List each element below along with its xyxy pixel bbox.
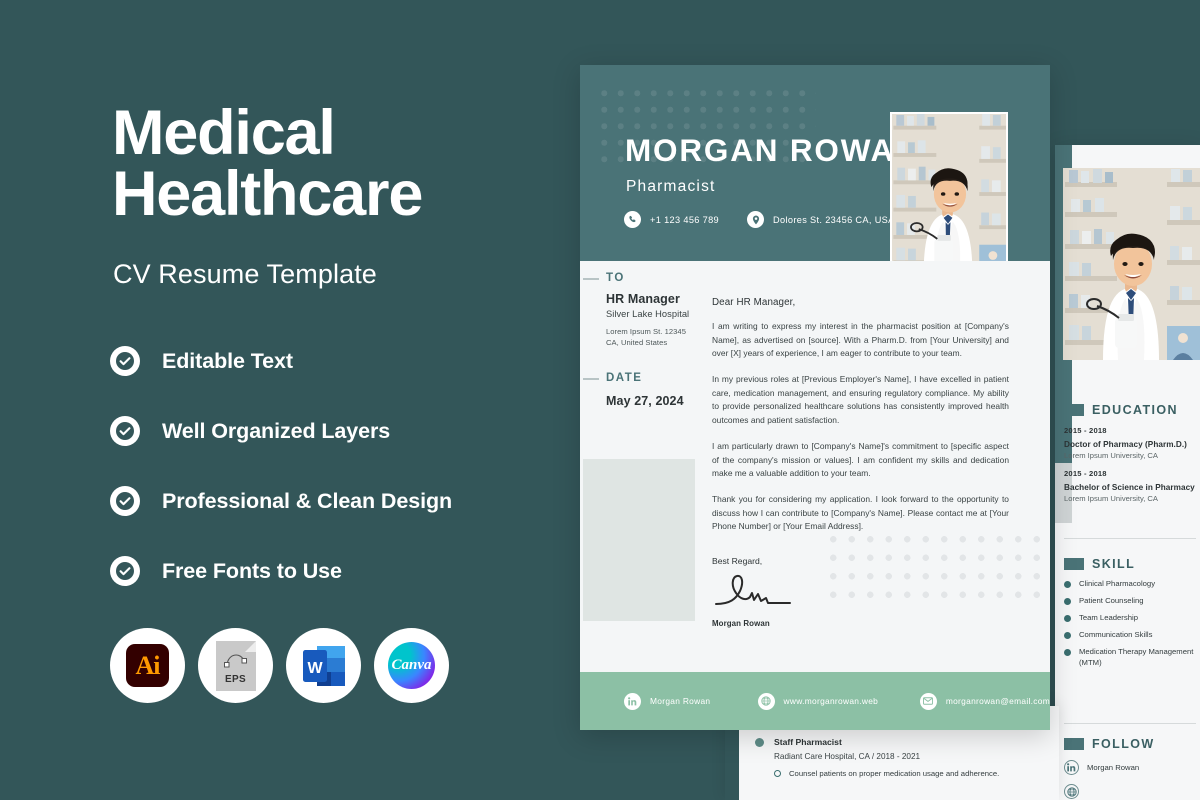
feature-list: Editable Text Well Organized Layers Prof… bbox=[110, 326, 540, 606]
bullet-dot-icon bbox=[1064, 598, 1071, 605]
follow-label: Morgan Rowan bbox=[1087, 763, 1139, 772]
skill-section: SKILL Clinical Pharmacology Patient Coun… bbox=[1064, 557, 1196, 669]
skill-label: Patient Counseling bbox=[1079, 596, 1144, 607]
follow-item[interactable] bbox=[1064, 784, 1196, 799]
skill-item: Team Leadership bbox=[1064, 613, 1196, 624]
to-address-line1: Lorem Ipsum St. 12345 bbox=[606, 326, 686, 337]
applicant-role: Pharmacist bbox=[626, 178, 716, 196]
cover-letter-footer: Morgan Rowan www.morganrowan.web morganr… bbox=[580, 672, 1050, 730]
footer-email[interactable]: morganrowan@email.com bbox=[920, 693, 1050, 710]
to-address-line2: CA, United States bbox=[606, 337, 667, 348]
cover-letter-header: MORGAN ROWAN Pharmacist +1 123 456 789 D… bbox=[580, 65, 1050, 261]
contact-phone-text: +1 123 456 789 bbox=[650, 215, 719, 225]
email-icon bbox=[920, 693, 937, 710]
contact-phone[interactable]: +1 123 456 789 bbox=[624, 211, 719, 228]
experience-meta: Radiant Care Hospital, CA / 2018 - 2021 bbox=[774, 752, 1055, 761]
resume-sidebar-page: EDUCATION 2015 - 2018 Doctor of Pharmacy… bbox=[1055, 145, 1200, 800]
bullet-dot-icon bbox=[1064, 649, 1071, 656]
follow-title: FOLLOW bbox=[1092, 737, 1155, 751]
education-degree: Bachelor of Science in Pharmacy bbox=[1064, 483, 1196, 492]
cover-letter-body: TO HR Manager Silver Lake Hospital Lorem… bbox=[580, 261, 1050, 671]
feature-label: Professional & Clean Design bbox=[162, 489, 452, 514]
globe-icon bbox=[1064, 784, 1079, 799]
skill-label: Clinical Pharmacology bbox=[1079, 579, 1155, 590]
education-school: Lorem Ipsum University, CA bbox=[1064, 451, 1196, 460]
check-circle-icon bbox=[110, 556, 140, 586]
adobe-illustrator-label: Ai bbox=[126, 644, 169, 687]
linkedin-icon bbox=[624, 693, 641, 710]
canva-label: Canva bbox=[388, 642, 435, 689]
education-degree: Doctor of Pharmacy (Pharm.D.) bbox=[1064, 440, 1196, 449]
footer-website[interactable]: www.morganrowan.web bbox=[758, 693, 879, 710]
skill-item: Clinical Pharmacology bbox=[1064, 579, 1196, 590]
feature-label: Editable Text bbox=[162, 349, 293, 374]
image-placeholder-box bbox=[583, 459, 695, 621]
section-divider bbox=[1064, 538, 1196, 539]
cover-letter-profile-photo bbox=[890, 112, 1008, 261]
education-title: EDUCATION bbox=[1092, 403, 1178, 417]
globe-icon bbox=[758, 693, 775, 710]
education-section: EDUCATION 2015 - 2018 Doctor of Pharmacy… bbox=[1064, 403, 1196, 503]
bezier-curve-icon bbox=[224, 648, 248, 670]
section-chip-icon bbox=[1064, 738, 1084, 750]
meta-rule bbox=[583, 278, 599, 280]
format-badges: Ai EPS W Canva bbox=[110, 628, 449, 703]
skill-label: Medication Therapy Management (MTM) bbox=[1079, 647, 1196, 669]
bullet-dot-icon bbox=[1064, 581, 1071, 588]
experience-bullet: Counsel patients on proper medication us… bbox=[774, 769, 1055, 778]
contact-address-text: Dolores St. 23456 CA, USA bbox=[773, 215, 895, 225]
education-school: Lorem Ipsum University, CA bbox=[1064, 494, 1196, 503]
signature-icon bbox=[712, 570, 804, 614]
skill-item: Medication Therapy Management (MTM) bbox=[1064, 647, 1196, 669]
education-entry: 2015 - 2018 Doctor of Pharmacy (Pharm.D.… bbox=[1064, 426, 1196, 460]
feature-item: Well Organized Layers bbox=[110, 396, 540, 466]
bullet-dot-icon bbox=[1064, 632, 1071, 639]
bullet-dot-icon bbox=[755, 738, 764, 747]
to-organization: Silver Lake Hospital bbox=[606, 309, 689, 319]
feature-label: Free Fonts to Use bbox=[162, 559, 342, 584]
eps-label: EPS bbox=[225, 674, 246, 685]
to-recipient-name: HR Manager bbox=[606, 292, 680, 306]
follow-section: FOLLOW Morgan Rowan bbox=[1064, 737, 1196, 799]
footer-linkedin[interactable]: Morgan Rowan bbox=[624, 693, 710, 710]
skill-label: Team Leadership bbox=[1079, 613, 1138, 624]
signature-name: Morgan Rowan bbox=[712, 619, 1009, 628]
education-date: 2015 - 2018 bbox=[1064, 426, 1196, 435]
experience-bullet-text: Counsel patients on proper medication us… bbox=[789, 769, 999, 778]
check-circle-icon bbox=[110, 416, 140, 446]
microsoft-word-icon[interactable]: W bbox=[286, 628, 361, 703]
letter-paragraph: I am particularly drawn to [Company's Na… bbox=[712, 440, 1009, 481]
bullet-ring-icon bbox=[774, 770, 781, 777]
promo-title-line2: Healthcare bbox=[112, 164, 422, 225]
canva-icon[interactable]: Canva bbox=[374, 628, 449, 703]
footer-linkedin-text: Morgan Rowan bbox=[650, 696, 710, 706]
dot-pattern-decoration bbox=[824, 530, 1042, 608]
cover-letter-page: MORGAN ROWAN Pharmacist +1 123 456 789 D… bbox=[580, 65, 1050, 730]
footer-email-text: morganrowan@email.com bbox=[946, 696, 1050, 706]
check-circle-icon bbox=[110, 486, 140, 516]
section-chip-icon bbox=[1064, 558, 1084, 570]
applicant-name: MORGAN ROWAN bbox=[625, 132, 920, 169]
skill-title: SKILL bbox=[1092, 557, 1135, 571]
letter-paragraph: I am writing to express my interest in t… bbox=[712, 320, 1009, 361]
feature-label: Well Organized Layers bbox=[162, 419, 390, 444]
education-date: 2015 - 2018 bbox=[1064, 469, 1196, 478]
skill-item: Communication Skills bbox=[1064, 630, 1196, 641]
linkedin-icon bbox=[1064, 760, 1079, 775]
letter-paragraph: Thank you for considering my application… bbox=[712, 493, 1009, 534]
date-value: May 27, 2024 bbox=[606, 394, 684, 408]
skill-label: Communication Skills bbox=[1079, 630, 1152, 641]
letter-greeting: Dear HR Manager, bbox=[712, 297, 1009, 308]
poster-canvas: Medical Healthcare CV Resume Template Ed… bbox=[0, 0, 1200, 800]
experience-title: Staff Pharmacist bbox=[774, 737, 842, 747]
section-chip-icon bbox=[1064, 404, 1084, 416]
feature-item: Editable Text bbox=[110, 326, 540, 396]
eps-file-icon[interactable]: EPS bbox=[198, 628, 273, 703]
phone-icon bbox=[624, 211, 641, 228]
cover-letter-text-column: Dear HR Manager, I am writing to express… bbox=[712, 261, 1009, 616]
promo-title-line1: Medical bbox=[112, 98, 335, 168]
experience-entry: Staff Pharmacist bbox=[755, 737, 1055, 747]
follow-item[interactable]: Morgan Rowan bbox=[1064, 760, 1196, 775]
letter-paragraph: In my previous roles at [Previous Employ… bbox=[712, 373, 1009, 428]
feature-item: Free Fonts to Use bbox=[110, 536, 540, 606]
check-circle-icon bbox=[110, 346, 140, 376]
to-label: TO bbox=[606, 272, 625, 284]
bullet-dot-icon bbox=[1064, 615, 1071, 622]
meta-rule bbox=[583, 378, 599, 380]
header-contacts: +1 123 456 789 Dolores St. 23456 CA, USA bbox=[624, 211, 895, 228]
cover-letter-meta-column: TO HR Manager Silver Lake Hospital Lorem… bbox=[580, 261, 695, 671]
promo-subtitle: CV Resume Template bbox=[113, 259, 377, 290]
contact-address[interactable]: Dolores St. 23456 CA, USA bbox=[747, 211, 895, 228]
education-entry: 2015 - 2018 Bachelor of Science in Pharm… bbox=[1064, 469, 1196, 503]
promo-title: Medical Healthcare bbox=[112, 103, 422, 225]
resume-profile-photo bbox=[1063, 168, 1200, 360]
location-pin-icon bbox=[747, 211, 764, 228]
footer-website-text: www.morganrowan.web bbox=[784, 696, 879, 706]
date-label: DATE bbox=[606, 372, 642, 384]
adobe-illustrator-icon[interactable]: Ai bbox=[110, 628, 185, 703]
section-divider bbox=[1064, 723, 1196, 724]
skill-item: Patient Counseling bbox=[1064, 596, 1196, 607]
feature-item: Professional & Clean Design bbox=[110, 466, 540, 536]
word-letter: W bbox=[307, 660, 323, 677]
